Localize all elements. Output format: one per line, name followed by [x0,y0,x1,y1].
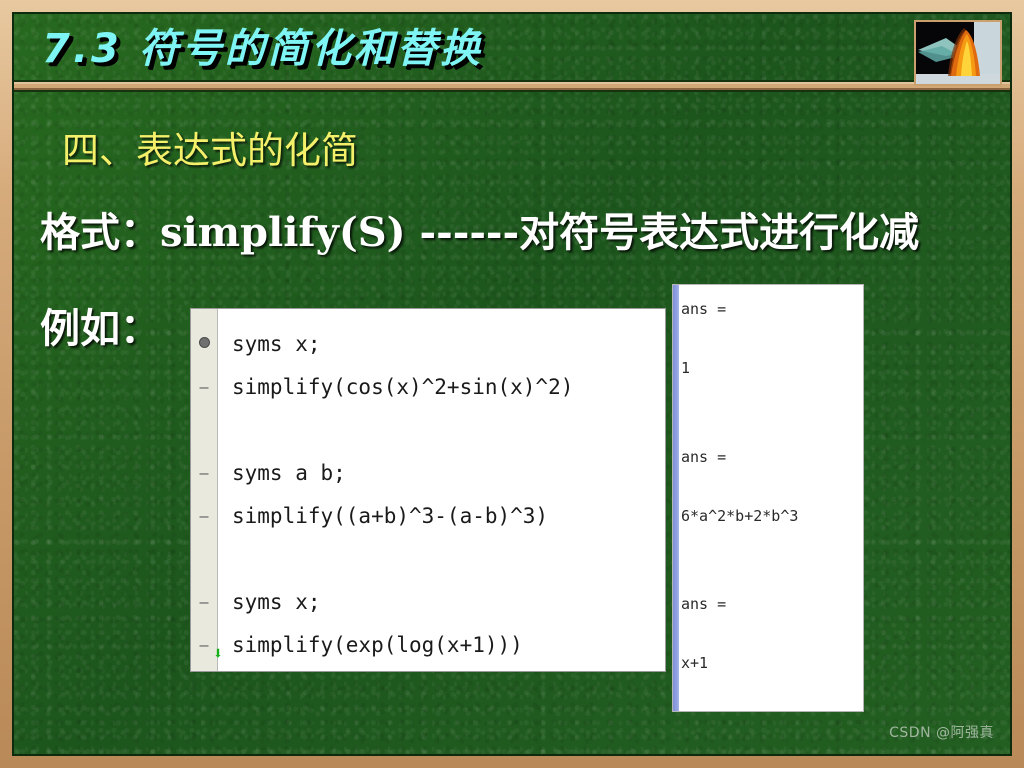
output-line [681,413,861,443]
output-line [681,384,861,414]
code-gutter[interactable]: –––––⬇ [191,309,218,671]
page-title: 7.3 符号的简化和替换 [42,16,483,74]
code-line: simplify((a+b)^3-(a-b)^3) [232,495,665,538]
breakpoint-dot-icon[interactable] [199,337,210,348]
output-line [681,620,861,650]
fold-dash-icon[interactable]: – [191,509,217,524]
fold-dash-icon[interactable]: – [191,595,217,610]
title-band: 7.3 符号的简化和替换 [14,14,1010,80]
format-line: 格式：simplify(S) ------对符号表达式进行化减 [40,200,919,258]
code-line: syms x; [232,323,665,366]
code-line: syms a b; [232,452,665,495]
code-line: simplify(exp(log(x+1))) [232,624,665,667]
code-line [232,538,665,581]
output-line [681,531,861,561]
code-line [232,409,665,452]
output-line: ans = [681,590,861,620]
output-line: ans = [681,443,861,473]
output-line [681,472,861,502]
output-line: x+1 [681,649,861,679]
section-heading: 四、表达式的化简 [62,120,358,174]
code-line: simplify(cos(x)^2+sin(x)^2) [232,366,665,409]
title-divider [14,80,1010,92]
output-line: ans = [681,295,861,325]
output-line: 6*a^2*b+2*b^3 [681,502,861,532]
code-editor-panel[interactable]: –––––⬇ syms x;simplify(cos(x)^2+sin(x)^2… [190,308,666,672]
slide-frame: 7.3 符号的简化和替换 四、表达式的化简 格式：simplify(S) ---… [0,0,1024,768]
output-line [681,325,861,355]
watermark: CSDN @阿强真 [889,722,994,742]
output-line [681,561,861,591]
matlab-membrane-logo-icon [914,20,1002,86]
command-output-panel[interactable]: ans = 1 ans = 6*a^2*b+2*b^3 ans = x+1 [672,284,864,712]
slide-inner-border: 7.3 符号的简化和替换 四、表达式的化简 格式：simplify(S) ---… [12,12,1012,756]
output-line: 1 [681,354,861,384]
fold-dash-icon[interactable]: – [191,466,217,481]
code-line: syms x; [232,581,665,624]
output-accent-bar [673,285,679,711]
code-lines[interactable]: syms x;simplify(cos(x)^2+sin(x)^2) syms … [218,309,665,671]
example-label: 例如： [40,296,160,354]
output-lines: ans = 1 ans = 6*a^2*b+2*b^3 ans = x+1 [681,295,861,711]
fold-dash-icon[interactable]: – [191,380,217,395]
